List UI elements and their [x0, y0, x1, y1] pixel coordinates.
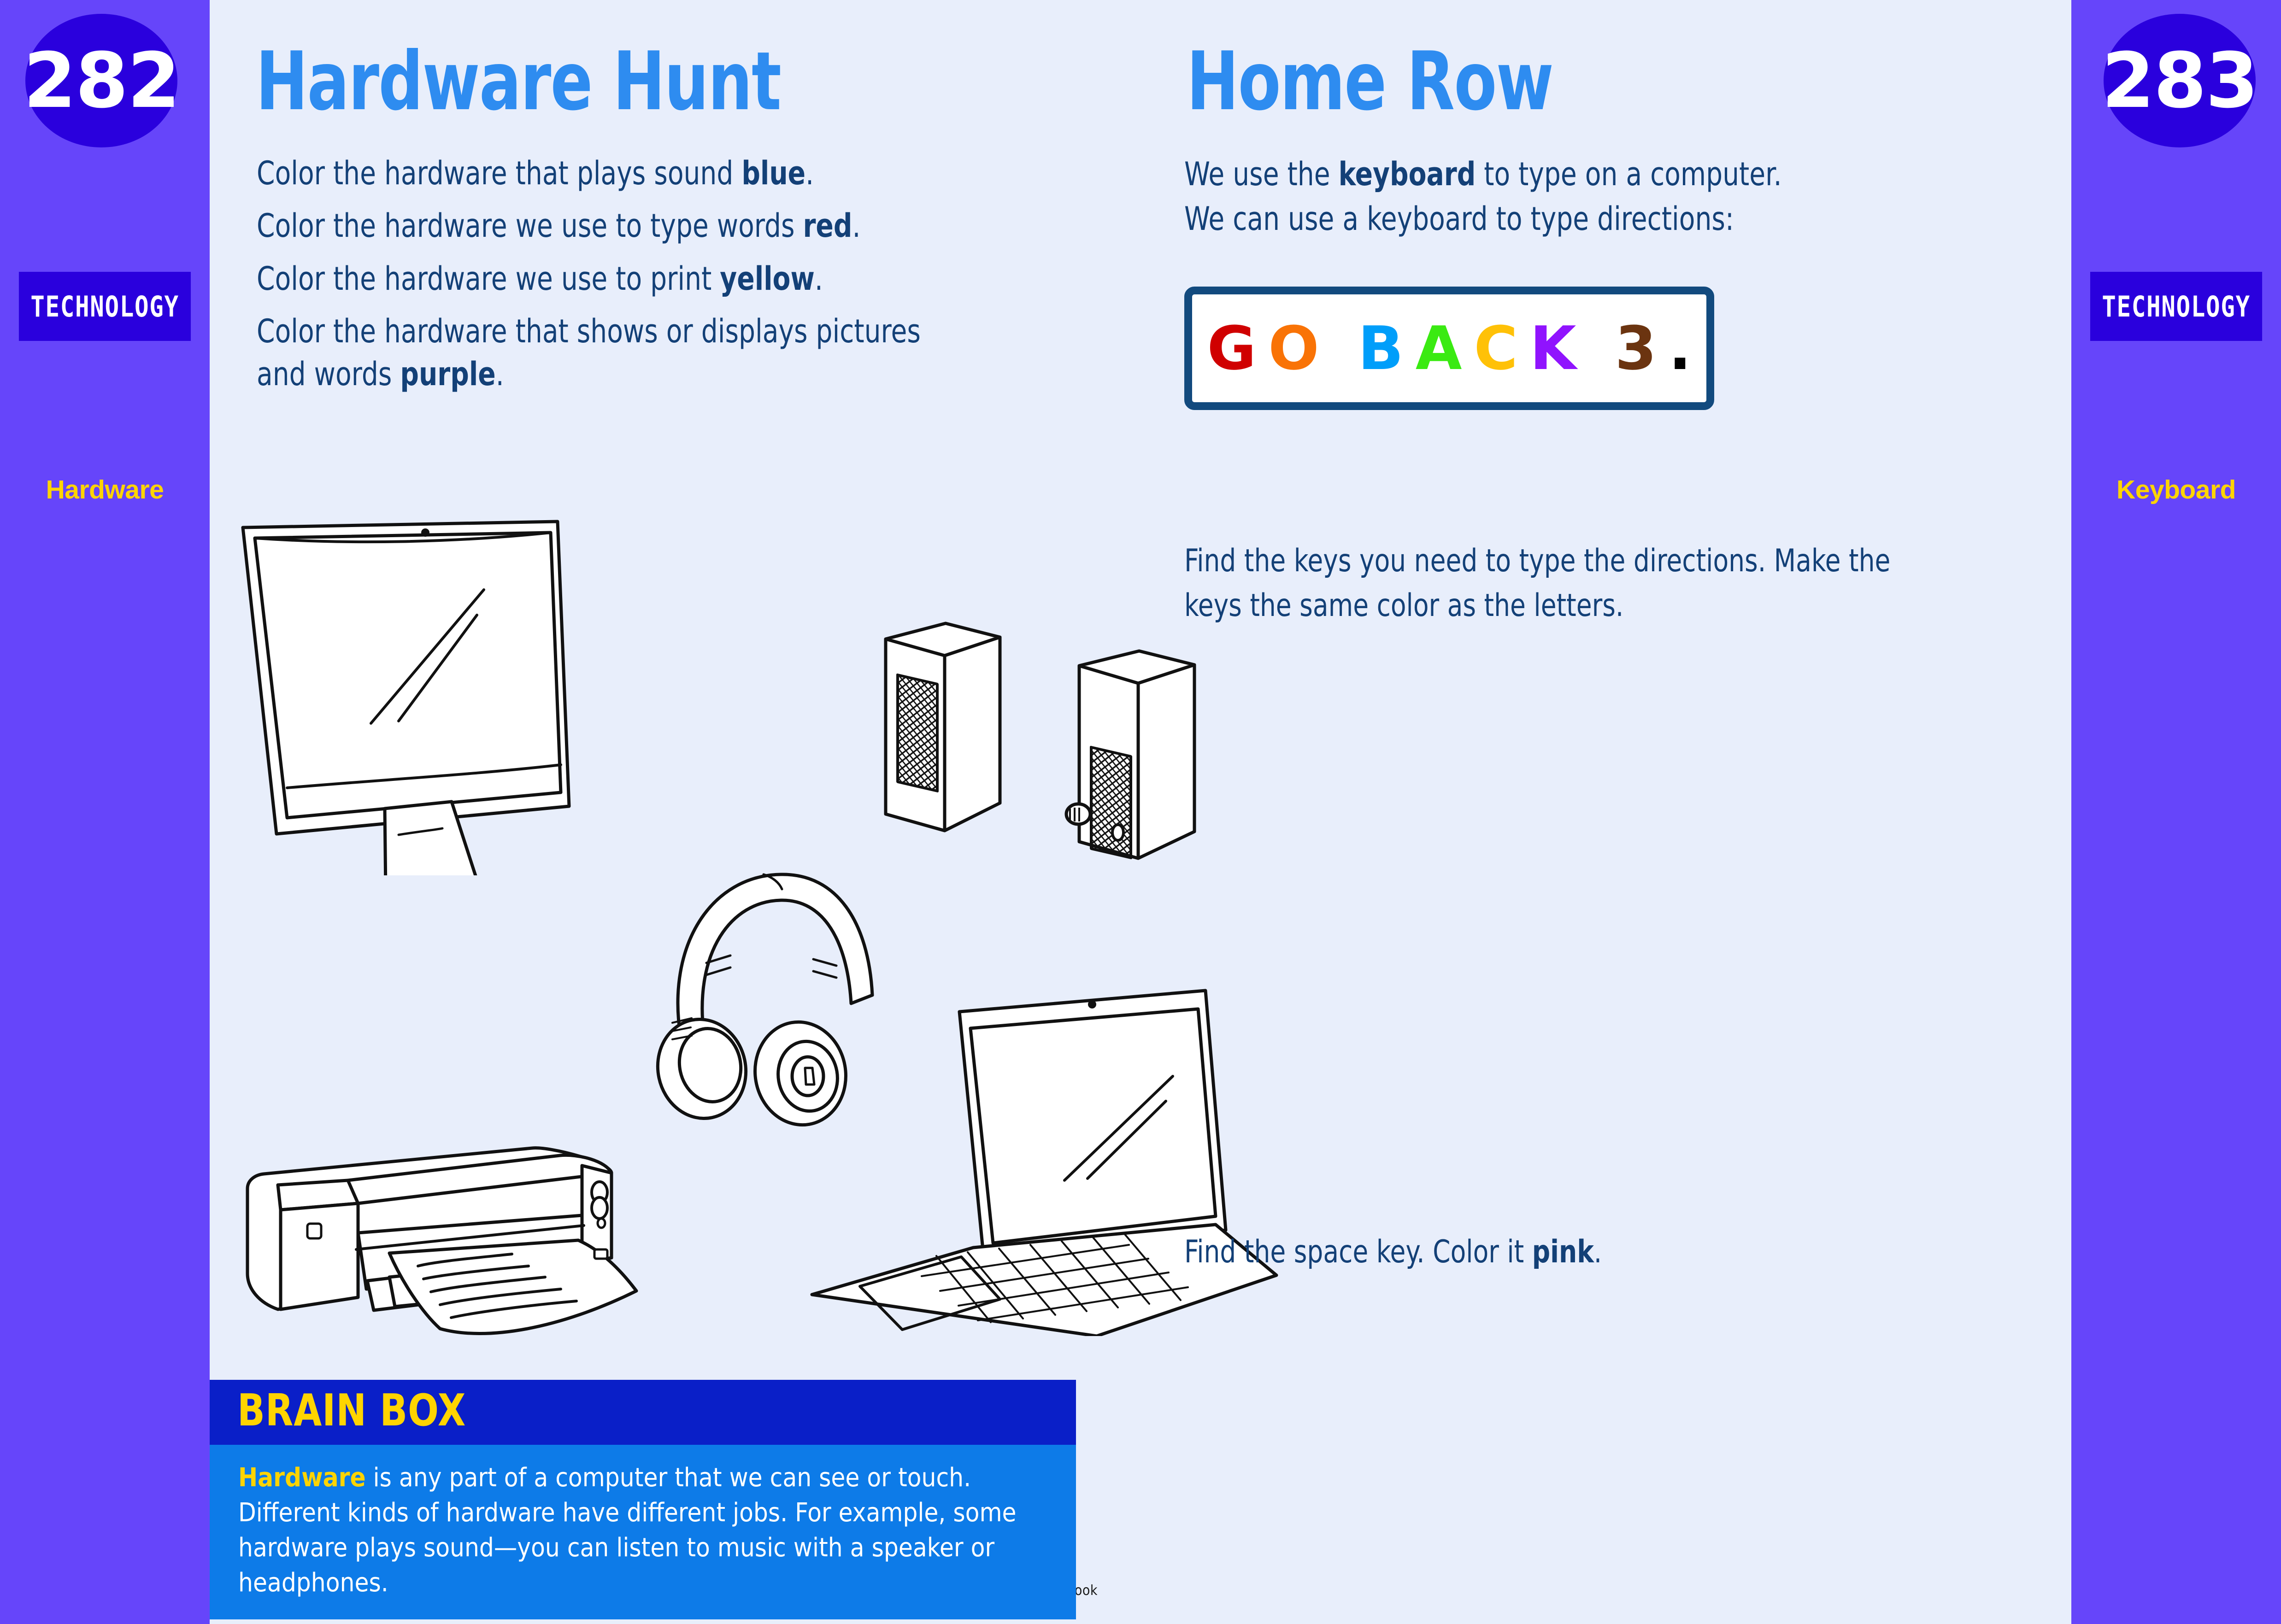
brain-box-body: Hardware is any part of a computer that …	[210, 1445, 1076, 1619]
rail-topic-keyboard: Keyboard	[2071, 475, 2281, 505]
instruction-line-4: Color the hardware that shows or display…	[257, 310, 962, 395]
page-title-hardware-hunt: Hardware Hunt	[256, 41, 781, 122]
brain-box-term: Hardware	[238, 1463, 366, 1493]
instruction-line-3: Color the hardware we use to print yello…	[257, 258, 962, 300]
instr-3-color-word: yellow	[720, 260, 815, 298]
instruction-line-1: Color the hardware that plays sound blue…	[257, 152, 962, 194]
directions-letter-G: G	[1201, 318, 1263, 378]
printer-illustration	[237, 1143, 670, 1345]
intro-1b: to type on a computer.	[1476, 155, 1781, 193]
instr-4-period: .	[496, 355, 504, 393]
intro-1a: We use the	[1184, 155, 1339, 193]
instr-2-period: .	[852, 207, 860, 245]
workbook-spread: 282 TECHNOLOGY Hardware Hardware Hunt Co…	[0, 0, 2281, 1624]
find-space-instruction: Find the space key. Color it pink.	[1184, 1230, 1806, 1275]
brain-box: BRAIN BOX Hardware is any part of a comp…	[210, 1380, 1076, 1619]
subject-tab-right: TECHNOLOGY	[2090, 272, 2262, 341]
page-right: 283 TECHNOLOGY Keyboard Home Row We use …	[1140, 0, 2281, 1624]
right-page-content: Home Row We use the keyboard to type on …	[1140, 0, 2071, 1624]
directions-letter-3: 3	[1609, 318, 1663, 378]
intro-text: We use the keyboard to type on a compute…	[1184, 152, 1889, 241]
find-space-color-word: pink	[1532, 1234, 1594, 1270]
instr-3-text: Color the hardware we use to print	[257, 260, 720, 298]
page-left: 282 TECHNOLOGY Hardware Hardware Hunt Co…	[0, 0, 1140, 1624]
directions-letter-A: A	[1410, 318, 1468, 378]
intro-keyword: keyboard	[1339, 155, 1476, 193]
right-rail: 283 TECHNOLOGY Keyboard	[2071, 0, 2281, 1624]
page-number-badge-left: 282	[25, 14, 177, 147]
instruction-list: Color the hardware that plays sound blue…	[257, 152, 962, 405]
find-space-b: .	[1594, 1234, 1602, 1270]
instr-4-text: Color the hardware that shows or display…	[257, 312, 921, 393]
left-rail: 282 TECHNOLOGY Hardware	[0, 0, 210, 1624]
subject-tab-left: TECHNOLOGY	[19, 272, 191, 341]
rail-topic-hardware: Hardware	[0, 475, 210, 505]
instr-1-color-word: blue	[741, 154, 805, 192]
directions-letter-C: C	[1468, 318, 1523, 378]
instruction-line-2: Color the hardware we use to type words …	[257, 205, 962, 247]
instr-1-period: .	[805, 154, 814, 192]
page-title-home-row: Home Row	[1187, 41, 1553, 122]
instr-1-text: Color the hardware that plays sound	[257, 154, 741, 192]
left-page-content: Hardware Hunt Color the hardware that pl…	[210, 0, 1140, 1624]
find-space-a: Find the space key. Color it	[1184, 1234, 1532, 1270]
find-keys-instruction: Find the keys you need to type the direc…	[1184, 539, 1914, 628]
brain-box-header: BRAIN BOX	[210, 1380, 1076, 1445]
monitor-illustration	[233, 516, 698, 875]
directions-word: GOBACK3.	[1201, 318, 1698, 378]
intro-line-1: We use the keyboard to type on a compute…	[1184, 152, 1889, 197]
directions-letter-.: .	[1663, 318, 1697, 378]
instr-3-period: .	[815, 260, 823, 298]
directions-letter-B: B	[1352, 318, 1410, 378]
directions-letter-O: O	[1262, 318, 1325, 378]
instr-2-color-word: red	[803, 207, 852, 245]
directions-letter-K: K	[1524, 318, 1582, 378]
instr-4-color-word: purple	[400, 355, 495, 393]
directions-card: GOBACK3.	[1184, 287, 1714, 410]
instr-2-text: Color the hardware we use to type words	[257, 207, 803, 245]
brain-box-title: BRAIN BOX	[237, 1389, 466, 1433]
intro-line-2: We can use a keyboard to type directions…	[1184, 197, 1889, 241]
page-number-badge-right: 283	[2104, 14, 2256, 147]
